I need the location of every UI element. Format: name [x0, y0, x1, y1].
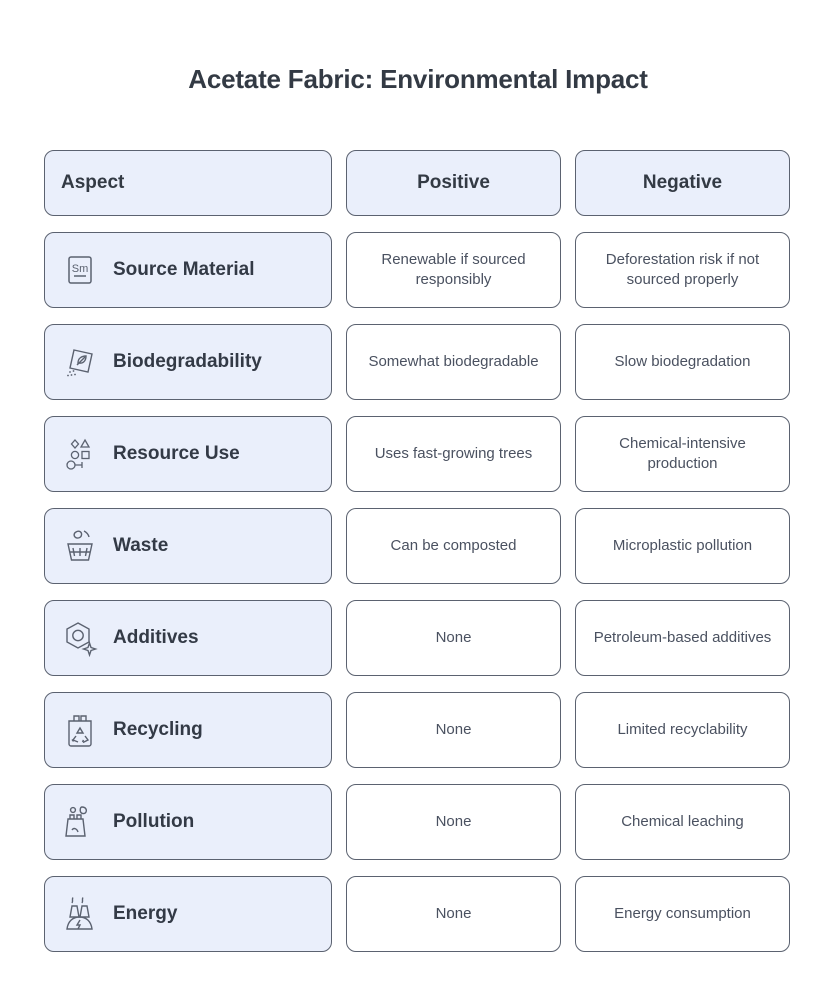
table-row: Sm Source Material Renewable if sourced … — [44, 232, 790, 308]
recycling-bag-icon — [61, 711, 99, 749]
negative-cell: Petroleum-based additives — [575, 600, 790, 676]
negative-text: Microplastic pollution — [613, 536, 752, 556]
page-title: Acetate Fabric: Environmental Impact — [0, 64, 836, 95]
header-label-negative: Negative — [643, 172, 722, 194]
negative-cell: Energy consumption — [575, 876, 790, 952]
positive-text: Can be composted — [391, 536, 517, 556]
aspect-label: Source Material — [113, 259, 255, 281]
positive-text: Uses fast-growing trees — [375, 444, 533, 464]
table-row: Energy None Energy consumption — [44, 876, 790, 952]
negative-text: Energy consumption — [614, 904, 751, 924]
positive-cell: None — [346, 600, 561, 676]
header-label-aspect: Aspect — [61, 172, 124, 194]
negative-text: Chemical-intensive production — [590, 434, 775, 475]
positive-text: Renewable if sourced responsibly — [361, 250, 546, 291]
hexagon-molecule-sparkle-icon — [61, 619, 99, 657]
negative-cell: Slow biodegradation — [575, 324, 790, 400]
positive-text: None — [436, 720, 472, 740]
biodegradable-leaf-icon — [61, 343, 99, 381]
aspect-label: Biodegradability — [113, 351, 262, 373]
header-cell-positive: Positive — [346, 150, 561, 216]
aspect-cell-pollution[interactable]: Pollution — [44, 784, 332, 860]
negative-cell: Chemical-intensive production — [575, 416, 790, 492]
positive-cell: None — [346, 876, 561, 952]
positive-cell: None — [346, 692, 561, 768]
positive-text: Somewhat biodegradable — [368, 352, 538, 372]
comparison-table-page: Acetate Fabric: Environmental Impact Asp… — [0, 0, 836, 989]
table-header-row: Aspect Positive Negative — [44, 150, 790, 216]
positive-cell: Somewhat biodegradable — [346, 324, 561, 400]
trash-bin-icon — [61, 527, 99, 565]
aspect-cell-waste[interactable]: Waste — [44, 508, 332, 584]
positive-cell: None — [346, 784, 561, 860]
header-cell-aspect: Aspect — [44, 150, 332, 216]
table-row: Additives None Petroleum-based additives — [44, 600, 790, 676]
factory-smokestack-icon — [61, 803, 99, 841]
header-cell-negative: Negative — [575, 150, 790, 216]
aspect-cell-recycling[interactable]: Recycling — [44, 692, 332, 768]
negative-text: Limited recyclability — [617, 720, 747, 740]
aspect-label: Recycling — [113, 719, 203, 741]
table-row: Waste Can be composted Microplastic poll… — [44, 508, 790, 584]
table-row: Recycling None Limited recyclability — [44, 692, 790, 768]
table-row: Biodegradability Somewhat biodegradable … — [44, 324, 790, 400]
negative-text: Deforestation risk if not sourced proper… — [590, 250, 775, 291]
positive-cell: Renewable if sourced responsibly — [346, 232, 561, 308]
positive-text: None — [436, 904, 472, 924]
positive-cell: Can be composted — [346, 508, 561, 584]
table-row: Resource Use Uses fast-growing trees Che… — [44, 416, 790, 492]
negative-text: Chemical leaching — [621, 812, 744, 832]
positive-text: None — [436, 628, 472, 648]
negative-text: Slow biodegradation — [615, 352, 751, 372]
aspect-label: Pollution — [113, 811, 194, 833]
negative-cell: Limited recyclability — [575, 692, 790, 768]
impact-table: Aspect Positive Negative Sm Source Mater — [44, 150, 790, 952]
negative-text: Petroleum-based additives — [594, 628, 772, 648]
header-label-positive: Positive — [417, 172, 490, 194]
aspect-cell-energy[interactable]: Energy — [44, 876, 332, 952]
table-row: Pollution None Chemical leaching — [44, 784, 790, 860]
positive-text: None — [436, 812, 472, 832]
negative-cell: Microplastic pollution — [575, 508, 790, 584]
aspect-cell-resource-use[interactable]: Resource Use — [44, 416, 332, 492]
aspect-cell-biodegradability[interactable]: Biodegradability — [44, 324, 332, 400]
negative-cell: Deforestation risk if not sourced proper… — [575, 232, 790, 308]
svg-text:Sm: Sm — [72, 263, 89, 275]
aspect-cell-additives[interactable]: Additives — [44, 600, 332, 676]
power-plant-energy-icon — [61, 895, 99, 933]
assorted-shapes-icon — [61, 435, 99, 473]
negative-cell: Chemical leaching — [575, 784, 790, 860]
positive-cell: Uses fast-growing trees — [346, 416, 561, 492]
aspect-label: Energy — [113, 903, 177, 925]
aspect-label: Additives — [113, 627, 199, 649]
aspect-label: Resource Use — [113, 443, 240, 465]
aspect-cell-source-material[interactable]: Sm Source Material — [44, 232, 332, 308]
aspect-label: Waste — [113, 535, 168, 557]
element-symbol-sm-icon: Sm — [61, 251, 99, 289]
